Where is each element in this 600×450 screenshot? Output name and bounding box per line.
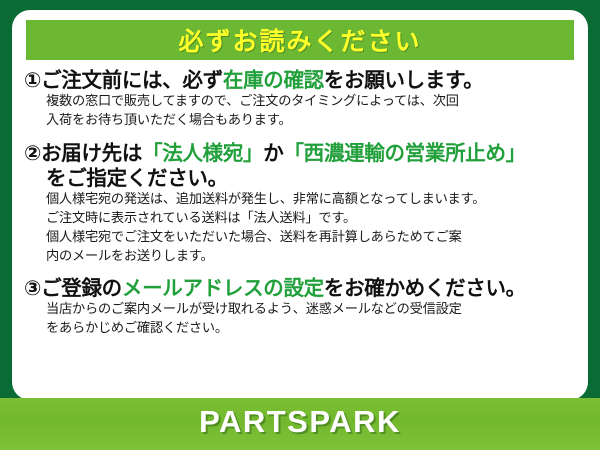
notice-banner: 必ずお読みください ①ご注文前には、必ず在庫の確認をお願いします。 複数の窓口で… <box>0 0 600 450</box>
notice-item-2-heading-line2: をご指定ください。 <box>24 166 580 191</box>
spacer-2 <box>24 268 580 276</box>
notice-item-3: ③ご登録のメールアドレスの設定をお確かめください。 当店からのご案内メールが受け… <box>24 276 580 338</box>
notice-item-2-heading: ②お届け先は「法人様宛」か「西濃運輸の営業所止め」 <box>24 141 580 166</box>
notice-item-1-heading: ①ご注文前には、必ず在庫の確認をお願いします。 <box>24 68 580 93</box>
spacer-1 <box>24 132 580 141</box>
notice-item-3-marker: ③ <box>24 276 41 300</box>
notice-item-2-body-line-1: 個人様宅宛の発送は、追加送料が発生し、非常に高額となってしまいます。 <box>46 191 580 210</box>
notice-item-3-head-highlight: メールアドレスの設定 <box>122 276 324 300</box>
notice-item-2-body: 個人様宅宛の発送は、追加送料が発生し、非常に高額となってしまいます。 ご注文時に… <box>24 191 580 266</box>
notice-item-2-head-highlight-1: 「法人様宛」 <box>142 141 263 165</box>
notice-item-2-body-line-2: ご注文時に表示されている送料は「法人送料」です。 <box>46 210 580 229</box>
notice-item-1-body-line-1: 複数の窓口で販売してますので、ご注文のタイミングによっては、次回 <box>46 93 580 112</box>
notice-item-3-head-part-3: をお確かめください。 <box>324 276 526 300</box>
notice-item-1-head-highlight: 在庫の確認 <box>223 68 324 92</box>
page-title: 必ずお読みください <box>178 22 421 58</box>
notice-item-1-body: 複数の窓口で販売してますので、ご注文のタイミングによっては、次回 入荷をお待ち頂… <box>24 93 580 130</box>
notice-panel: 必ずお読みください ①ご注文前には、必ず在庫の確認をお願いします。 複数の窓口で… <box>12 10 588 400</box>
notice-item-1-head-part-3: をお願いします。 <box>324 68 484 92</box>
notice-item-3-heading: ③ご登録のメールアドレスの設定をお確かめください。 <box>24 276 580 301</box>
notice-item-1-head-part-1: ご注文前には、必ず <box>41 68 223 92</box>
notice-item-2-head-part-3: か <box>263 141 283 165</box>
notice-item-2-head-part-1: お届け先は <box>41 141 142 165</box>
brand-logo: PARTSPARK <box>0 404 600 440</box>
notice-header-bar: 必ずお読みください <box>26 20 574 60</box>
notice-item-2-marker: ② <box>24 141 41 165</box>
notice-content: ①ご注文前には、必ず在庫の確認をお願いします。 複数の窓口で販売してますので、ご… <box>24 68 580 341</box>
notice-item-2-body-line-4: 内のメールをお送りします。 <box>46 248 580 267</box>
notice-item-3-body-line-2: をあらかじめご確認ください。 <box>46 320 580 339</box>
notice-item-1-body-line-2: 入荷をお待ち頂いただく場合もあります。 <box>46 112 580 131</box>
notice-item-3-head-part-1: ご登録の <box>41 276 122 300</box>
notice-item-1-marker: ① <box>24 68 41 92</box>
notice-item-2-head-highlight-2: 「西濃運輸の営業所止め」 <box>283 141 525 165</box>
notice-item-2-body-line-3: 個人様宅宛でご注文をいただいた場合、送料を再計算しあらためてご案 <box>46 229 580 248</box>
notice-item-1: ①ご注文前には、必ず在庫の確認をお願いします。 複数の窓口で販売してますので、ご… <box>24 68 580 130</box>
notice-item-3-body: 当店からのご案内メールが受け取れるよう、迷惑メールなどの受信設定 をあらかじめご… <box>24 301 580 338</box>
notice-item-3-body-line-1: 当店からのご案内メールが受け取れるよう、迷惑メールなどの受信設定 <box>46 301 580 320</box>
notice-item-2: ②お届け先は「法人様宛」か「西濃運輸の営業所止め」 をご指定ください。 個人様宅… <box>24 141 580 266</box>
